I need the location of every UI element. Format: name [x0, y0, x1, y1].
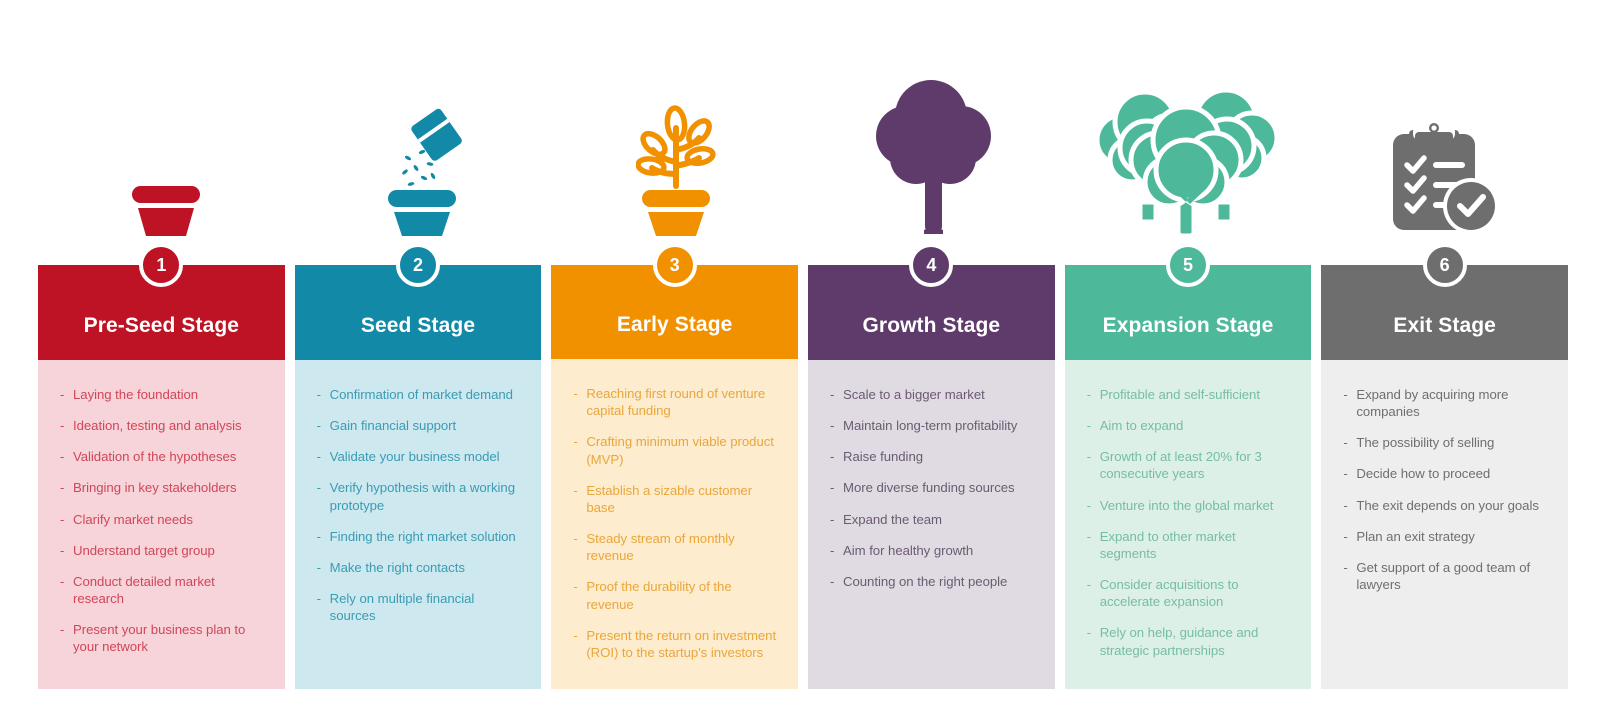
stage-badge-2: 2 [396, 243, 440, 287]
list-item: -Present the return on investment (ROI) … [573, 627, 778, 661]
list-item: -Expand the team [830, 511, 1035, 528]
bullet-marker: - [1343, 528, 1356, 545]
bullet-marker: - [573, 433, 586, 467]
sprout-pot-icon [636, 104, 716, 236]
empty-pot-icon [128, 164, 204, 236]
stage-column-2: 2 Seed Stage -Confirmation of market dem… [295, 265, 542, 689]
stage-header-4: 4 Growth Stage [808, 265, 1055, 360]
bullet-marker: - [830, 479, 843, 496]
list-item: -Expand to other market segments [1087, 528, 1292, 562]
bullet-marker: - [830, 386, 843, 403]
bullet-marker: - [1343, 465, 1356, 482]
list-item: -Get support of a good team of lawyers [1343, 559, 1548, 593]
stage-column-6: 6 Exit Stage -Expand by acquiring more c… [1321, 265, 1568, 689]
stage-number-2: 2 [413, 256, 423, 274]
list-item: -Establish a sizable customer base [573, 482, 778, 516]
icon-cell-4 [803, 0, 1058, 250]
stage-badge-1: 1 [139, 243, 183, 287]
icon-cell-1 [38, 0, 293, 250]
list-item: -Venture into the global market [1087, 497, 1292, 514]
stage-number-4: 4 [926, 256, 936, 274]
stage-header-5: 5 Expansion Stage [1065, 265, 1312, 360]
list-item: -Gain financial support [317, 417, 522, 434]
stage-number-6: 6 [1440, 256, 1450, 274]
list-item: -Plan an exit strategy [1343, 528, 1548, 545]
list-item: -Steady stream of monthly revenue [573, 530, 778, 564]
stage-body-1: -Laying the foundation -Ideation, testin… [38, 360, 285, 689]
bullet-marker: - [830, 511, 843, 528]
stage-number-1: 1 [156, 256, 166, 274]
single-tree-icon [866, 76, 996, 236]
bullet-marker: - [60, 448, 73, 465]
list-item: -Profitable and self-sufficient [1087, 386, 1292, 403]
stage-badge-6: 6 [1423, 243, 1467, 287]
stage-body-3: -Reaching first round of venture capital… [551, 359, 798, 689]
bullet-marker: - [60, 417, 73, 434]
bullet-marker: - [1087, 624, 1100, 658]
bullet-marker: - [1087, 448, 1100, 482]
icon-cell-2 [293, 0, 548, 250]
stage-column-5: 5 Expansion Stage -Profitable and self-s… [1065, 265, 1312, 689]
stage-title-6: Exit Stage [1393, 314, 1496, 337]
bullet-marker: - [60, 511, 73, 528]
bullet-marker: - [573, 578, 586, 612]
stage-body-5: -Profitable and self-sufficient -Aim to … [1065, 360, 1312, 689]
stage-title-2: Seed Stage [361, 314, 475, 337]
bullet-marker: - [573, 385, 586, 419]
stage-number-5: 5 [1183, 256, 1193, 274]
list-item: -Reaching first round of venture capital… [573, 385, 778, 419]
list-item: -Rely on multiple financial sources [317, 590, 522, 624]
list-item: -The exit depends on your goals [1343, 497, 1548, 514]
bullet-marker: - [830, 417, 843, 434]
clipboard-check-icon [1383, 118, 1499, 236]
bullet-marker: - [60, 621, 73, 655]
bullet-marker: - [1343, 497, 1356, 514]
list-item: -Conduct detailed market research [60, 573, 265, 607]
bullet-marker: - [317, 417, 330, 434]
bullet-marker: - [60, 573, 73, 607]
bullet-marker: - [60, 479, 73, 496]
bullet-marker: - [1343, 386, 1356, 420]
bullet-marker: - [573, 627, 586, 661]
stage-column-1: 1 Pre-Seed Stage -Laying the foundation … [38, 265, 285, 689]
stage-header-2: 2 Seed Stage [295, 265, 542, 360]
list-item: -More diverse funding sources [830, 479, 1035, 496]
bullet-marker: - [317, 559, 330, 576]
list-item: -Consider acquisitions to accelerate exp… [1087, 576, 1292, 610]
list-item: -Finding the right market solution [317, 528, 522, 545]
stage-title-4: Growth Stage [862, 314, 1000, 337]
stage-header-1: 1 Pre-Seed Stage [38, 265, 285, 360]
stage-columns: 1 Pre-Seed Stage -Laying the foundation … [38, 265, 1568, 689]
startup-stages-infographic: 1 Pre-Seed Stage -Laying the foundation … [0, 0, 1600, 703]
bullet-marker: - [60, 386, 73, 403]
list-item: -Aim for healthy growth [830, 542, 1035, 559]
list-item: -Validation of the hypotheses [60, 448, 265, 465]
list-item: -Raise funding [830, 448, 1035, 465]
icon-row [38, 0, 1568, 250]
list-item: -Verify hypothesis with a working protot… [317, 479, 522, 513]
three-trees-icon [1090, 76, 1282, 236]
list-item: -Proof the durability of the revenue [573, 578, 778, 612]
list-item: -Maintain long-term profitability [830, 417, 1035, 434]
list-item: -Understand target group [60, 542, 265, 559]
stage-header-3: 3 Early Stage [551, 265, 798, 359]
bullet-marker: - [1343, 559, 1356, 593]
list-item: -Ideation, testing and analysis [60, 417, 265, 434]
list-item: -Bringing in key stakeholders [60, 479, 265, 496]
bullet-marker: - [317, 386, 330, 403]
stage-badge-4: 4 [909, 243, 953, 287]
list-item: -Make the right contacts [317, 559, 522, 576]
bullet-marker: - [830, 542, 843, 559]
stage-number-3: 3 [670, 256, 680, 274]
bullet-marker: - [1087, 497, 1100, 514]
bullet-marker: - [573, 530, 586, 564]
list-item: -Counting on the right people [830, 573, 1035, 590]
bullet-marker: - [317, 590, 330, 624]
list-item: -Expand by acquiring more companies [1343, 386, 1548, 420]
list-item: -Scale to a bigger market [830, 386, 1035, 403]
stage-body-2: -Confirmation of market demand -Gain fin… [295, 360, 542, 689]
stage-title-3: Early Stage [617, 313, 733, 336]
list-item: -Aim to expand [1087, 417, 1292, 434]
list-item: -The possibility of selling [1343, 434, 1548, 451]
stage-body-4: -Scale to a bigger market -Maintain long… [808, 360, 1055, 689]
bullet-marker: - [1343, 434, 1356, 451]
bullet-marker: - [1087, 417, 1100, 434]
list-item: -Present your business plan to your netw… [60, 621, 265, 655]
list-item: -Decide how to proceed [1343, 465, 1548, 482]
icon-cell-3 [548, 0, 803, 250]
icon-cell-6 [1313, 0, 1568, 250]
bullet-marker: - [317, 448, 330, 465]
bullet-marker: - [1087, 386, 1100, 403]
list-item: -Laying the foundation [60, 386, 265, 403]
list-item: -Confirmation of market demand [317, 386, 522, 403]
list-item: -Growth of at least 20% for 3 consecutiv… [1087, 448, 1292, 482]
stage-title-5: Expansion Stage [1103, 314, 1274, 337]
list-item: -Validate your business model [317, 448, 522, 465]
bullet-marker: - [1087, 528, 1100, 562]
stage-column-3: 3 Early Stage -Reaching first round of v… [551, 265, 798, 689]
stage-column-4: 4 Growth Stage -Scale to a bigger market… [808, 265, 1055, 689]
stage-body-6: -Expand by acquiring more companies -The… [1321, 360, 1568, 689]
list-item: -Clarify market needs [60, 511, 265, 528]
stage-title-1: Pre-Seed Stage [84, 314, 239, 337]
seed-packet-pot-icon [378, 108, 464, 236]
icon-cell-5 [1058, 0, 1313, 250]
stage-badge-3: 3 [653, 243, 697, 287]
bullet-marker: - [830, 573, 843, 590]
bullet-marker: - [317, 528, 330, 545]
bullet-marker: - [573, 482, 586, 516]
bullet-marker: - [60, 542, 73, 559]
stage-badge-5: 5 [1166, 243, 1210, 287]
bullet-marker: - [830, 448, 843, 465]
stage-header-6: 6 Exit Stage [1321, 265, 1568, 360]
bullet-marker: - [1087, 576, 1100, 610]
bullet-marker: - [317, 479, 330, 513]
list-item: -Rely on help, guidance and strategic pa… [1087, 624, 1292, 658]
list-item: -Crafting minimum viable product (MVP) [573, 433, 778, 467]
